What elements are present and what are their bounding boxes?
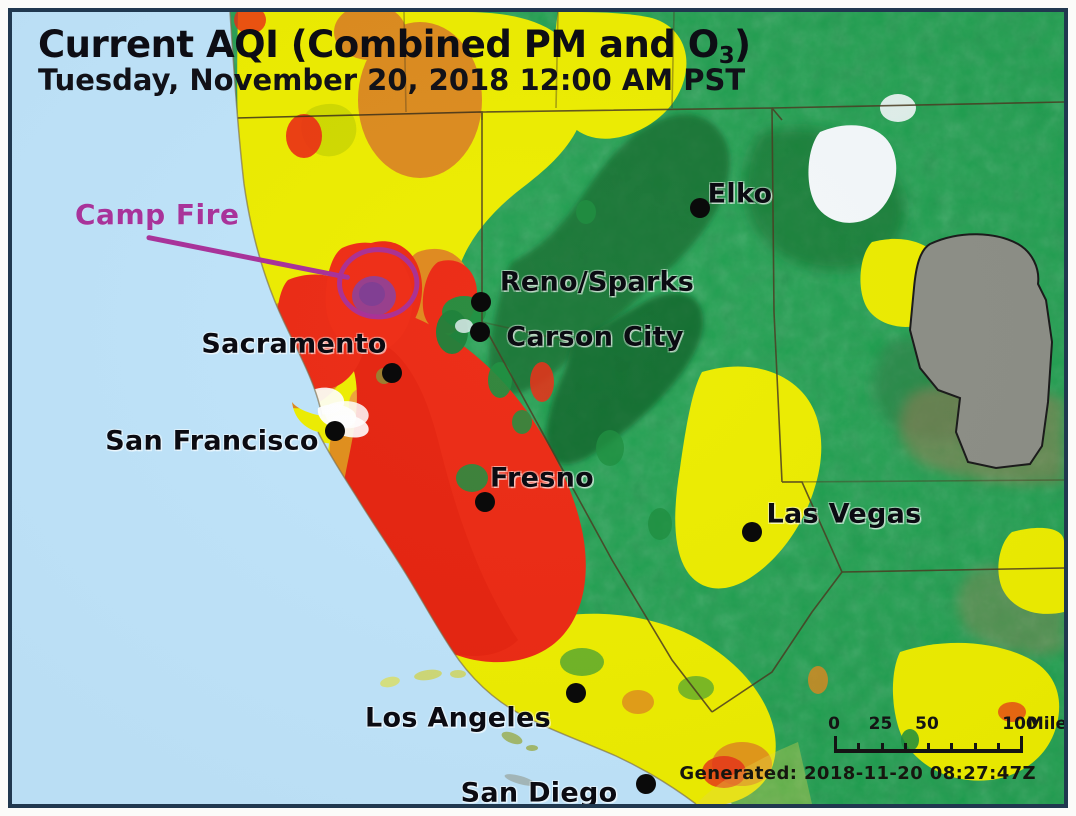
city-dot[interactable]	[636, 774, 656, 794]
city-label: San Francisco	[105, 426, 319, 457]
city-label: Carson City	[506, 322, 683, 353]
scale-tick	[997, 743, 1000, 753]
city-label: San Diego	[461, 778, 618, 809]
scale-tick-label: 25	[869, 714, 893, 734]
city-label: Fresno	[490, 463, 594, 494]
city-label: Elko	[708, 179, 773, 210]
camp-fire-label: Camp Fire	[75, 198, 239, 231]
scale-tick-label: 0	[828, 714, 840, 734]
city-dot[interactable]	[471, 292, 491, 312]
scale-ticks	[834, 736, 1020, 756]
scale-tick	[904, 743, 907, 753]
scale-unit-label: Miles	[1027, 714, 1068, 734]
map-frame: Current AQI (Combined PM and O3) Tuesday…	[8, 8, 1068, 808]
scale-tick	[927, 743, 930, 753]
city-label: Reno/Sparks	[500, 267, 694, 298]
city-dot[interactable]	[566, 683, 586, 703]
scale-tick-label: 50	[915, 714, 939, 734]
city-label: Sacramento	[201, 329, 386, 360]
city-dot[interactable]	[475, 492, 495, 512]
aqi-map-page: Current AQI (Combined PM and O3) Tuesday…	[0, 0, 1076, 816]
city-dot[interactable]	[742, 522, 762, 542]
scale-tick	[974, 743, 977, 753]
scale-tick	[881, 743, 884, 753]
city-label: Las Vegas	[767, 499, 922, 530]
city-dot[interactable]	[382, 363, 402, 383]
scale-bar: 02550100Miles	[834, 714, 1020, 756]
city-label: Los Angeles	[365, 703, 551, 734]
scale-tick	[834, 736, 837, 753]
scale-tick	[857, 743, 860, 753]
city-dot[interactable]	[470, 322, 490, 342]
city-dot[interactable]	[325, 421, 345, 441]
generated-timestamp: Generated: 2018-11-20 08:27:47Z	[679, 763, 1036, 784]
scale-tick	[950, 743, 953, 753]
scale-numbers: 02550100Miles	[834, 714, 1020, 736]
scale-tick	[1020, 736, 1023, 753]
aqi-map-canvas[interactable]	[12, 12, 1064, 804]
